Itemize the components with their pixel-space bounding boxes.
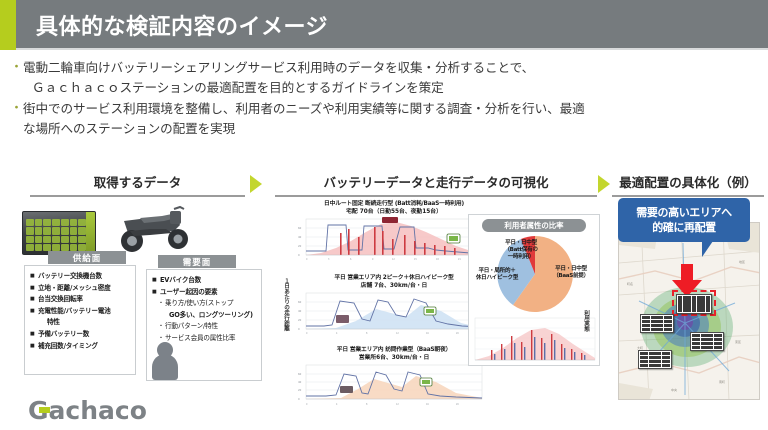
bullet-item: ・ 電動二輪車向けバッテリーシェアリングサービス利用時のデータを収集・分析するこ… <box>10 58 762 77</box>
section-header-acquired-data: 取得するデータ <box>30 172 245 197</box>
svg-text:40: 40 <box>298 235 302 239</box>
section-label: 最適配置の具体化（例） <box>612 172 764 195</box>
chart-title: 平日 営業エリア内 2ピーク＋休日ハイピーク型 <box>296 274 492 282</box>
section-header-optimal-placement: 最適配置の具体化（例） <box>612 172 764 197</box>
pie-chart-wrap: 平日・日中型 （Batt保有の 一時利用） 平日・局所的＋ 休日ハイピーク型 平… <box>469 232 601 316</box>
chart-subtitle: 宅配 70台（日勤55台、夜勤15台） <box>296 208 492 216</box>
bullet-subtext: Ｇａｃｈａｃｏステーションの最適配置を目的とするガイドラインを策定 <box>32 78 762 97</box>
chart-block-3: 平日 営業エリア内 訪問作業型（BaaS朝夜） 営業所6台、30km/台・日 0… <box>296 346 492 409</box>
svg-text:20: 20 <box>456 332 459 335</box>
chart-block-2: 平日 営業エリア内 2ピーク＋休日ハイピーク型 店舗 7台、30km/台・日 0… <box>296 274 492 337</box>
svg-text:20: 20 <box>298 388 302 392</box>
svg-text:0: 0 <box>306 332 308 335</box>
bullet-subtext: な場所へのステーションの配置を実現 <box>23 119 762 138</box>
bullet-text: 街中でのサービス利用環境を整備し、利用者のニーズや利用実績等に関する調査・分析を… <box>23 99 585 118</box>
panel-optimal-placement: 需要の高いエリアへ 的確に再配置 <box>614 198 764 406</box>
svg-text:60: 60 <box>298 226 302 230</box>
chart-canvas: 0204060 048 121620 <box>296 363 492 409</box>
bullet-text: 電動二輪車向けバッテリーシェアリングサービス利用時のデータを収集・分析することで… <box>23 58 534 77</box>
battery-cell-grid <box>26 219 86 251</box>
section-label: 取得するデータ <box>30 172 245 195</box>
bullet-marker: ・ <box>10 99 23 118</box>
svg-text:8: 8 <box>366 403 368 406</box>
supply-list: バッテリー交換機台数 立地・距離/メッシュ密度 台当交換回転率 充電性能/バッテ… <box>25 266 135 357</box>
list-item: ユーザー起因の要素 <box>152 288 257 297</box>
logo-accent-bar <box>39 407 50 413</box>
pie-chart-card: 利用者属性の比率 平日・日中型 （Batt保有の 一時利用） 平日・局所的＋ 休… <box>468 214 600 366</box>
chart-block-1: 日中ルート固定 断続走行型 (Batt消耗/BaaS一時利用) 宅配 70台（日… <box>296 200 492 263</box>
callout-bubble: 需要の高いエリアへ 的確に再配置 <box>618 198 750 242</box>
gachaco-logo: Gachaco <box>28 396 147 425</box>
svg-text:町名: 町名 <box>627 281 633 286</box>
bullet-item: ・ 街中でのサービス利用環境を整備し、利用者のニーズや利用実績等に関する調査・分… <box>10 99 762 118</box>
svg-text:0: 0 <box>306 403 308 406</box>
station-cabinet-icon <box>676 294 712 314</box>
pie-label-weekday-local-holiday: 平日・局所的＋ 休日ハイピーク型 <box>471 268 523 282</box>
svg-text:12: 12 <box>396 332 399 335</box>
svg-text:8: 8 <box>366 332 368 335</box>
svg-text:60: 60 <box>298 300 302 304</box>
svg-text:12: 12 <box>392 258 395 261</box>
slide-header: 具体的な検証内容のイメージ <box>0 0 768 50</box>
section-rule <box>30 195 245 197</box>
list-item-sub: 行動パターン/特性 <box>152 322 257 331</box>
list-item: 立地・距離/メッシュ密度 <box>30 284 131 293</box>
section-rule <box>612 195 764 197</box>
svg-text:中央: 中央 <box>671 387 677 392</box>
svg-text:0: 0 <box>306 258 308 261</box>
svg-text:4: 4 <box>336 332 338 335</box>
pie-label-weekday-daytime-batt: 平日・日中型 （Batt保有の 一時利用） <box>495 240 547 261</box>
chart-subtitle: 店舗 7台、30km/台・日 <box>296 282 492 290</box>
svg-text:16: 16 <box>426 332 429 335</box>
svg-text:18: 18 <box>436 258 439 261</box>
list-item: 充電性能/バッテリー電池 <box>30 307 131 316</box>
chart-subtitle: 営業所6台、30km/台・日 <box>296 354 492 362</box>
list-item: バッテリー交換機台数 <box>30 272 131 281</box>
supply-list-box: バッテリー交換機台数 立地・距離/メッシュ密度 台当交換回転率 充電性能/バッテ… <box>24 265 136 375</box>
battery-cabinet-image <box>22 211 96 255</box>
chart-canvas: 0204060 048 121620 <box>296 291 492 337</box>
svg-text:東区: 東区 <box>735 339 741 344</box>
bullet-marker: ・ <box>10 58 23 77</box>
section-header-band: 取得するデータ バッテリーデータと走行データの可視化 最適配置の具体化（例） <box>0 172 768 198</box>
section-label: バッテリーデータと走行データの可視化 <box>275 172 597 195</box>
panel-acquired-data: 供給面 需要面 バッテリー交換機台数 立地・距離/メッシュ密度 台当交換回転率 … <box>18 205 270 405</box>
svg-text:40: 40 <box>298 309 302 313</box>
svg-text:20: 20 <box>298 244 302 248</box>
svg-text:0: 0 <box>298 397 300 401</box>
svg-text:3: 3 <box>328 258 330 261</box>
section-rule <box>275 195 597 197</box>
list-item-sub: 乗り方/使い方(ストップ <box>152 299 257 308</box>
svg-text:4: 4 <box>336 403 338 406</box>
station-cabinet-icon <box>638 350 672 369</box>
svg-text:12: 12 <box>396 403 399 406</box>
svg-text:6: 6 <box>350 258 352 261</box>
svg-text:0: 0 <box>298 327 300 331</box>
list-item: 予備バッテリー数 <box>30 330 131 339</box>
y-axis-label-left: １日あたりの走行距離 <box>282 278 289 354</box>
header-underline <box>16 48 768 50</box>
svg-text:60: 60 <box>298 372 302 376</box>
station-cabinet-icon <box>690 332 724 351</box>
pie-chart-title: 利用者属性の比率 <box>482 219 586 232</box>
supply-caption: 供給面 <box>48 251 126 264</box>
svg-text:地区: 地区 <box>739 259 745 264</box>
list-item: 台当交換回転率 <box>30 295 131 304</box>
y-axis-label-right: 利用実態 <box>582 310 589 331</box>
arrow-right-icon <box>598 175 610 193</box>
svg-text:南町: 南町 <box>719 379 725 384</box>
section-header-visualization: バッテリーデータと走行データの可視化 <box>275 172 597 197</box>
svg-text:15: 15 <box>414 258 417 261</box>
station-cabinet-icon <box>640 314 674 333</box>
user-person-icon <box>152 342 178 380</box>
slide-root: 具体的な検証内容のイメージ ・ 電動二輪車向けバッテリーシェアリングサービス利用… <box>0 0 768 430</box>
battery-side-panel <box>86 212 95 254</box>
demand-caption: 需要面 <box>158 255 236 268</box>
bullet-list: ・ 電動二輪車向けバッテリーシェアリングサービス利用時のデータを収集・分析するこ… <box>10 58 762 138</box>
svg-text:20: 20 <box>298 318 302 322</box>
list-item-continuation: 特性 <box>30 318 131 327</box>
list-item: EVバイク台数 <box>152 276 257 285</box>
svg-text:0: 0 <box>298 253 300 257</box>
demand-list: EVバイク台数 ユーザー起因の要素 乗り方/使い方(ストップ GO多い、ロングツ… <box>147 270 261 350</box>
page-title: 具体的な検証内容のイメージ <box>36 9 328 41</box>
arrow-right-icon <box>250 175 262 193</box>
chart-title: 日中ルート固定 断続走行型 (Batt消耗/BaaS一時利用) <box>296 200 492 208</box>
list-item-continuation: GO多い、ロングツーリング) <box>152 311 257 320</box>
svg-text:9: 9 <box>372 258 374 261</box>
list-item: 補充回数/タイミング <box>30 342 131 351</box>
pie-label-weekday-daytime-baas: 平日・日中型 （BaaS前提） <box>545 266 597 280</box>
callout-text: 需要の高いエリアへ 的確に再配置 <box>636 205 731 235</box>
callout-tail <box>702 241 713 257</box>
panel-visualization: １日あたりの走行距離 日中ルート固定 断続走行型 (Batt消耗/BaaS一時利… <box>282 200 612 410</box>
svg-text:40: 40 <box>298 380 302 384</box>
svg-text:21: 21 <box>458 258 461 261</box>
svg-text:20: 20 <box>456 403 459 406</box>
header-accent-bar <box>0 0 16 50</box>
svg-text:16: 16 <box>426 403 429 406</box>
chart-canvas: 0204060 0369 12151821 <box>296 217 492 263</box>
chart-title: 平日 営業エリア内 訪問作業型（BaaS朝夜） <box>296 346 492 354</box>
